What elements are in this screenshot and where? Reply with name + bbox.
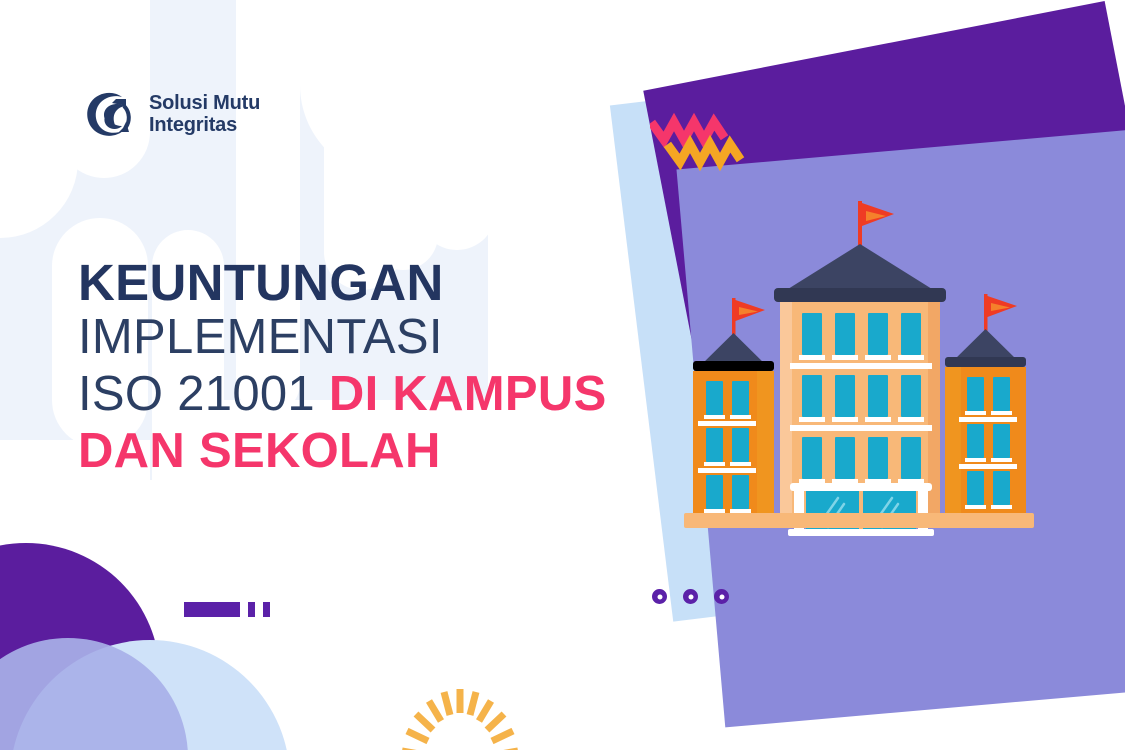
headline-line-3-accent: DI KAMPUS [329,367,607,421]
zigzag-wave-orange-icon [670,144,738,162]
solusi-mutu-circular-arrow-logo-icon [82,86,138,142]
headline-line-4: DAN SEKOLAH [78,428,638,476]
headline-line-3-standard: ISO 21001 [78,367,329,421]
right-tower-icon [945,294,1026,513]
dot [714,589,729,604]
dash-marks-icon [263,602,270,617]
left-tower-icon [693,298,774,513]
school-campus-building-illustration [662,195,1052,550]
poster-canvas: Solusi Mutu Integritas KEUNTUNGAN IMPLEM… [0,0,1125,750]
dot [652,589,667,604]
dash-marks-icon [184,602,240,617]
flag-icon [858,201,894,253]
glass-entrance-door-icon [788,483,934,536]
dot [683,589,698,604]
dash-marks-icon [248,602,255,617]
brand-logo[interactable]: Solusi Mutu Integritas [82,86,260,142]
white-drip-shape-icon [368,120,438,270]
building-base [684,513,1034,528]
brand-name-line2: Integritas [149,114,260,136]
headline-line-1: KEUNTUNGAN [78,258,638,307]
zigzag-decoration [650,108,770,178]
headline-line-2: IMPLEMENTASI [78,314,638,362]
headline-line-3: ISO 21001 DI KAMPUS [78,371,638,419]
brand-name-line1: Solusi Mutu [149,92,260,114]
brand-logo-text: Solusi Mutu Integritas [149,92,260,137]
zigzag-wave-pink-icon [654,122,722,140]
sunburst-rays-icon [385,675,535,750]
page-title: KEUNTUNGAN IMPLEMENTASI ISO 21001 DI KAM… [78,258,638,475]
center-tower-icon [774,201,946,536]
three-dots-icon [652,589,729,604]
